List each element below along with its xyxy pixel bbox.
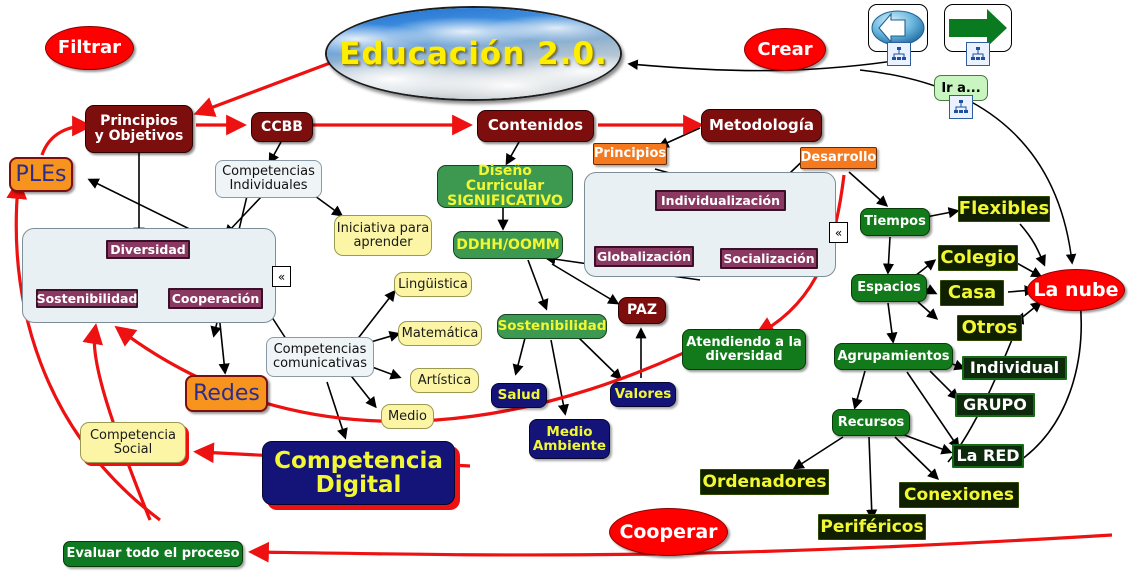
node-casa[interactable]: Casa	[940, 280, 1004, 306]
node-linguistica[interactable]: Lingüistica	[394, 272, 472, 297]
node-matematica-label: Matemática	[402, 327, 479, 341]
node-ordenadores-label: Ordenadores	[703, 473, 827, 491]
node-valores[interactable]: Valores	[610, 382, 676, 407]
node-paz-label: PAZ	[627, 303, 657, 318]
node-espacios-label: Espacios	[857, 281, 921, 295]
node-perifericos[interactable]: Periféricos	[818, 514, 926, 540]
node-flexibles[interactable]: Flexibles	[958, 196, 1050, 222]
node-tiempos-label: Tiempos	[864, 215, 926, 229]
node-valores-label: Valores	[615, 387, 672, 401]
node-individualizacion-label: Individualización	[661, 194, 780, 207]
node-competencia-social[interactable]: Competencia Social	[80, 422, 186, 463]
goto-button-resource-icon[interactable]	[949, 95, 973, 119]
node-sostenibilidad-principio-label: Sostenibilidad	[37, 292, 138, 305]
node-agrupamientos[interactable]: Agrupamientos	[834, 343, 953, 370]
node-principios-y-objetivos[interactable]: Principios y Objetivos	[85, 105, 193, 153]
node-la-red[interactable]: La RED	[952, 444, 1024, 468]
concept-map-resource-icon	[891, 46, 907, 62]
node-individualizacion[interactable]: Individualización	[655, 190, 786, 211]
node-la-nube-label: La nube	[1033, 280, 1118, 300]
forward-button-resource-icon[interactable]	[966, 42, 990, 66]
node-evaluar-todo-el-proceso-label: Evaluar todo el proceso	[66, 547, 239, 561]
node-competencia-digital[interactable]: Competencia Digital	[262, 441, 455, 505]
node-ddhh-oomm-label: DDHH/OOMM	[456, 238, 559, 253]
node-ples[interactable]: PLEs	[9, 157, 73, 192]
node-la-red-label: La RED	[956, 448, 1019, 465]
node-medio-ambiente[interactable]: Medio Ambiente	[529, 419, 610, 459]
node-competencias-comunicativas[interactable]: Competencias comunicativas	[266, 337, 374, 377]
node-contenidos-label: Contenidos	[488, 118, 583, 134]
node-metodologia-label: Metodología	[709, 118, 814, 134]
node-socializacion-label: Socialización	[723, 252, 814, 265]
node-diversidad[interactable]: Diversidad	[106, 240, 190, 259]
node-principios-y-objetivos-label: Principios y Objetivos	[95, 114, 184, 144]
node-globalizacion-label: Globalización	[597, 250, 691, 263]
node-cooperacion-label: Cooperación	[172, 292, 260, 305]
action-oval-cooperar-label: Cooperar	[619, 522, 717, 542]
node-medio[interactable]: Medio	[381, 404, 434, 429]
node-grupo[interactable]: GRUPO	[955, 393, 1035, 417]
node-salud[interactable]: Salud	[491, 383, 547, 408]
node-socializacion[interactable]: Socialización	[720, 248, 818, 269]
node-redes-label: Redes	[193, 382, 260, 405]
node-sostenibilidad[interactable]: Sostenibilidad	[497, 314, 607, 339]
action-oval-cooperar[interactable]: Cooperar	[609, 508, 728, 556]
node-recursos-label: Recursos	[838, 416, 905, 430]
action-oval-crear-label: Crear	[757, 40, 812, 59]
node-grupo-label: GRUPO	[963, 397, 1027, 414]
concept-map-resource-icon	[970, 46, 986, 62]
node-principios-metodologia-label: Principios	[594, 147, 666, 161]
node-medio-ambiente-label: Medio Ambiente	[533, 425, 606, 454]
node-iniciativa-para-aprender[interactable]: Iniciativa para aprender	[334, 215, 432, 256]
node-atendiendo-a-la-diversidad-label: Atendiendo a la diversidad	[686, 336, 801, 364]
node-espacios[interactable]: Espacios	[851, 274, 927, 302]
node-ples-label: PLEs	[16, 163, 67, 186]
node-ddhh-oomm[interactable]: DDHH/OOMM	[453, 231, 563, 259]
node-diversidad-label: Diversidad	[110, 243, 186, 256]
node-ccbb-label: CCBB	[261, 120, 303, 135]
node-artistica-label: Artística	[418, 374, 472, 388]
collapse-marker-diversidad[interactable]: «	[272, 266, 291, 287]
node-otros-label: Otros	[962, 318, 1018, 337]
node-conexiones[interactable]: Conexiones	[899, 482, 1019, 508]
node-matematica[interactable]: Matemática	[398, 321, 482, 346]
node-medio-label: Medio	[388, 410, 427, 424]
node-flexibles-label: Flexibles	[959, 199, 1049, 218]
node-perifericos-label: Periféricos	[820, 518, 923, 536]
node-iniciativa-para-aprender-label: Iniciativa para aprender	[337, 222, 429, 250]
node-redes[interactable]: Redes	[185, 375, 268, 412]
node-sostenibilidad-label: Sostenibilidad	[498, 319, 607, 333]
node-competencias-individuales[interactable]: Competencias Individuales	[215, 160, 322, 198]
node-conexiones-label: Conexiones	[904, 486, 1014, 504]
node-agrupamientos-label: Agrupamientos	[837, 350, 949, 364]
node-artistica[interactable]: Artística	[410, 368, 479, 393]
node-individual[interactable]: Individual	[962, 356, 1067, 380]
node-competencia-social-label: Competencia Social	[90, 429, 176, 457]
action-oval-crear[interactable]: Crear	[744, 28, 826, 71]
back-button-resource-icon[interactable]	[887, 42, 911, 66]
collapse-marker-metodologia[interactable]: «	[829, 222, 848, 243]
concept-map-resource-icon	[953, 99, 969, 115]
node-desarrollo[interactable]: Desarrollo	[800, 147, 877, 169]
node-ccbb[interactable]: CCBB	[251, 112, 313, 142]
node-ordenadores[interactable]: Ordenadores	[700, 469, 829, 495]
node-globalizacion[interactable]: Globalización	[594, 246, 694, 267]
node-colegio[interactable]: Colegio	[938, 245, 1018, 271]
node-metodologia[interactable]: Metodología	[701, 109, 822, 142]
node-competencias-comunicativas-label: Competencias comunicativas	[273, 343, 367, 371]
node-evaluar-todo-el-proceso[interactable]: Evaluar todo el proceso	[63, 541, 243, 567]
goto-button-label: Ir a...	[941, 81, 980, 96]
node-recursos[interactable]: Recursos	[832, 409, 910, 436]
node-principios-metodologia[interactable]: Principios	[593, 143, 667, 165]
node-colegio-label: Colegio	[940, 248, 1015, 267]
concept-map-canvas: « « Educación 2.0. Filtrar Crear Coopera…	[0, 0, 1131, 573]
node-linguistica-label: Lingüistica	[398, 278, 468, 292]
node-otros[interactable]: Otros	[957, 315, 1022, 341]
central-node-educacion[interactable]: Educación 2.0.	[325, 6, 622, 101]
node-paz[interactable]: PAZ	[618, 297, 666, 324]
node-sostenibilidad-principio[interactable]: Sostenibilidad	[36, 289, 138, 308]
action-oval-filtrar[interactable]: Filtrar	[45, 26, 134, 70]
node-diseno-curricular[interactable]: Diseño Curricular SIGNIFICATIVO	[437, 165, 573, 208]
node-individual-label: Individual	[970, 360, 1059, 377]
node-competencia-digital-label: Competencia Digital	[274, 449, 443, 498]
node-salud-label: Salud	[498, 388, 541, 402]
node-tiempos[interactable]: Tiempos	[860, 208, 930, 236]
node-contenidos[interactable]: Contenidos	[477, 110, 594, 142]
node-atendiendo-a-la-diversidad[interactable]: Atendiendo a la diversidad	[682, 329, 806, 370]
node-la-nube[interactable]: La nube	[1027, 269, 1125, 311]
action-oval-filtrar-label: Filtrar	[58, 38, 121, 57]
node-competencias-individuales-label: Competencias Individuales	[222, 165, 315, 193]
node-desarrollo-label: Desarrollo	[801, 151, 877, 165]
node-cooperacion[interactable]: Cooperación	[168, 288, 263, 309]
node-diseno-curricular-label: Diseño Curricular SIGNIFICATIVO	[438, 164, 572, 208]
central-node-label: Educación 2.0.	[327, 8, 620, 99]
node-casa-label: Casa	[948, 283, 996, 302]
